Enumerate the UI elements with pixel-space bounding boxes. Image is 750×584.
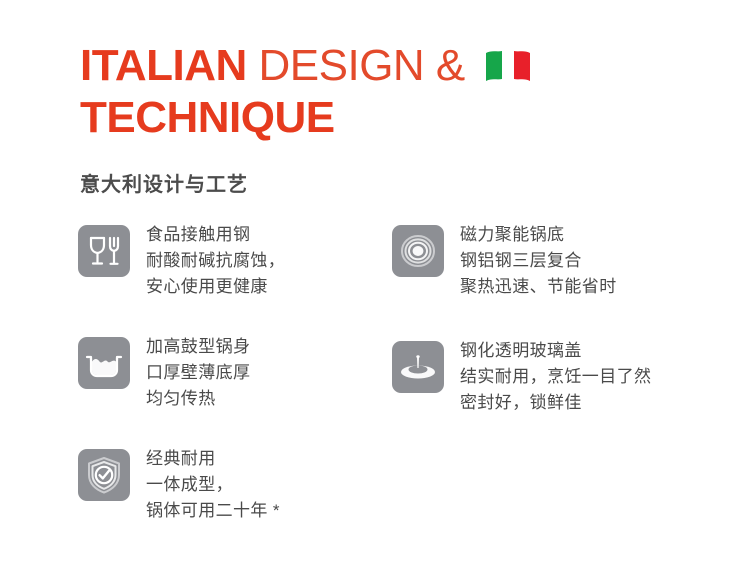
feature-text: 加高鼓型锅身 口厚壁薄底厚 均匀传热 bbox=[146, 334, 250, 412]
feature-line: 耐酸耐碱抗腐蚀， bbox=[146, 248, 285, 274]
feature-line: 锅体可用二十年 * bbox=[146, 498, 280, 524]
headline-block: ITALIAN DESIGN & TECHNIQUE bbox=[80, 44, 700, 148]
feature-text: 钢化透明玻璃盖 结实耐用，烹饪一目了然 密封好，锁鲜佳 bbox=[460, 338, 651, 416]
feature-item-glass-lid: 钢化透明玻璃盖 结实耐用，烹饪一目了然 密封好，锁鲜佳 bbox=[392, 338, 651, 416]
italy-flag-icon bbox=[483, 49, 533, 83]
glass-lid-icon bbox=[392, 341, 444, 393]
headline-italian: ITALIAN bbox=[80, 41, 247, 90]
feature-item-durability: 经典耐用 一体成型， 锅体可用二十年 * bbox=[78, 446, 280, 524]
feature-line: 均匀传热 bbox=[146, 386, 250, 412]
feature-line: 加高鼓型锅身 bbox=[146, 334, 250, 360]
feature-text: 食品接触用钢 耐酸耐碱抗腐蚀， 安心使用更健康 bbox=[146, 222, 285, 300]
headline-line-2: TECHNIQUE bbox=[80, 96, 700, 148]
pot-body-basin-icon bbox=[78, 337, 130, 389]
feature-line: 经典耐用 bbox=[146, 446, 280, 472]
feature-item-food-safe: 食品接触用钢 耐酸耐碱抗腐蚀， 安心使用更健康 bbox=[78, 222, 285, 300]
subtitle-chinese: 意大利设计与工艺 bbox=[80, 168, 248, 197]
feature-line: 密封好，锁鲜佳 bbox=[460, 390, 651, 416]
induction-base-rings-icon bbox=[392, 225, 444, 277]
feature-text: 经典耐用 一体成型， 锅体可用二十年 * bbox=[146, 446, 280, 524]
feature-line: 口厚壁薄底厚 bbox=[146, 360, 250, 386]
feature-line: 结实耐用，烹饪一目了然 bbox=[460, 364, 651, 390]
feature-item-pot-body: 加高鼓型锅身 口厚壁薄底厚 均匀传热 bbox=[78, 334, 250, 412]
feature-text: 磁力聚能锅底 钢铝钢三层复合 聚热迅速、节能省时 bbox=[460, 222, 617, 300]
headline-technique: TECHNIQUE bbox=[80, 93, 335, 142]
feature-item-induction-base: 磁力聚能锅底 钢铝钢三层复合 聚热迅速、节能省时 bbox=[392, 222, 617, 300]
shield-check-durability-icon bbox=[78, 449, 130, 501]
feature-line: 一体成型， bbox=[146, 472, 280, 498]
feature-line: 安心使用更健康 bbox=[146, 274, 285, 300]
headline-design-amp: DESIGN & bbox=[259, 41, 465, 90]
feature-line: 聚热迅速、节能省时 bbox=[460, 274, 617, 300]
food-safe-glass-fork-icon bbox=[78, 225, 130, 277]
feature-line: 磁力聚能锅底 bbox=[460, 222, 617, 248]
feature-line: 钢化透明玻璃盖 bbox=[460, 338, 651, 364]
feature-line: 钢铝钢三层复合 bbox=[460, 248, 617, 274]
feature-line: 食品接触用钢 bbox=[146, 222, 285, 248]
promo-banner: ITALIAN DESIGN & TECHNIQUE 意大利设计与工艺 bbox=[0, 0, 750, 584]
headline-line-1: ITALIAN DESIGN & bbox=[80, 44, 700, 96]
